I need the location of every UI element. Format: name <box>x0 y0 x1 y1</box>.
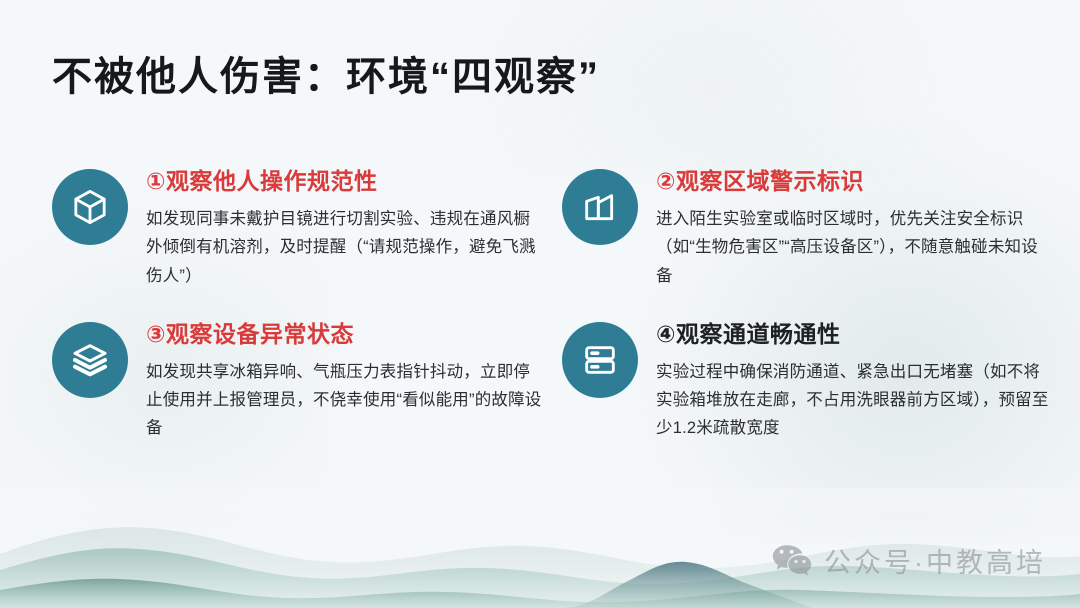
observation-item: ①观察他人操作规范性 如发现同事未戴护目镜进行切割实验、违规在通风橱外倾倒有机溶… <box>52 165 542 290</box>
observation-text: ②观察区域警示标识 进入陌生实验室或临时区域时，优先关注安全标识（如“生物危害区… <box>656 165 1052 290</box>
page-title: 不被他人伤害：环境“四观察” <box>52 44 600 102</box>
observation-body: 进入陌生实验室或临时区域时，优先关注安全标识（如“生物危害区”“高压设备区”），… <box>656 205 1052 290</box>
buildings-icon <box>562 169 638 245</box>
observation-heading: ④观察通道畅通性 <box>656 320 1052 349</box>
observation-body: 实验过程中确保消防通道、紧急出口无堵塞（如不将实验箱堆放在走廊，不占用洗眼器前方… <box>656 358 1052 443</box>
observation-body: 如发现共享冰箱异响、气瓶压力表指针抖动，立即停止使用并上报管理员，不侥幸使用“看… <box>146 358 542 443</box>
observation-item: ④观察通道畅通性 实验过程中确保消防通道、紧急出口无堵塞（如不将实验箱堆放在走廊… <box>562 318 1052 443</box>
observation-text: ③观察设备异常状态 如发现共享冰箱异响、气瓶压力表指针抖动，立即停止使用并上报管… <box>146 318 542 443</box>
observation-heading: ③观察设备异常状态 <box>146 320 542 349</box>
observation-heading: ②观察区域警示标识 <box>656 167 1052 196</box>
observation-heading: ①观察他人操作规范性 <box>146 167 542 196</box>
mountain-illustration <box>0 458 1080 608</box>
observation-body: 如发现同事未戴护目镜进行切割实验、违规在通风橱外倾倒有机溶剂，及时提醒（“请规范… <box>146 205 542 290</box>
observation-item: ③观察设备异常状态 如发现共享冰箱异响、气瓶压力表指针抖动，立即停止使用并上报管… <box>52 318 542 443</box>
observation-item: ②观察区域警示标识 进入陌生实验室或临时区域时，优先关注安全标识（如“生物危害区… <box>562 165 1052 290</box>
watermark: 公众号·中教高培 <box>772 541 1046 580</box>
observation-grid: ①观察他人操作规范性 如发现同事未戴护目镜进行切割实验、违规在通风橱外倾倒有机溶… <box>52 165 1052 443</box>
observation-text: ④观察通道畅通性 实验过程中确保消防通道、紧急出口无堵塞（如不将实验箱堆放在走廊… <box>656 318 1052 443</box>
cube-icon <box>52 169 128 245</box>
watermark-text: 公众号·中教高培 <box>824 541 1046 580</box>
layers-icon <box>52 322 128 398</box>
slide-canvas: 不被他人伤害：环境“四观察” ①观察他人操作规范性 如发现同事未戴护目镜进行切割… <box>0 0 1080 608</box>
observation-text: ①观察他人操作规范性 如发现同事未戴护目镜进行切割实验、违规在通风橱外倾倒有机溶… <box>146 165 542 290</box>
server-rack-icon <box>562 322 638 398</box>
wechat-icon <box>772 544 812 578</box>
